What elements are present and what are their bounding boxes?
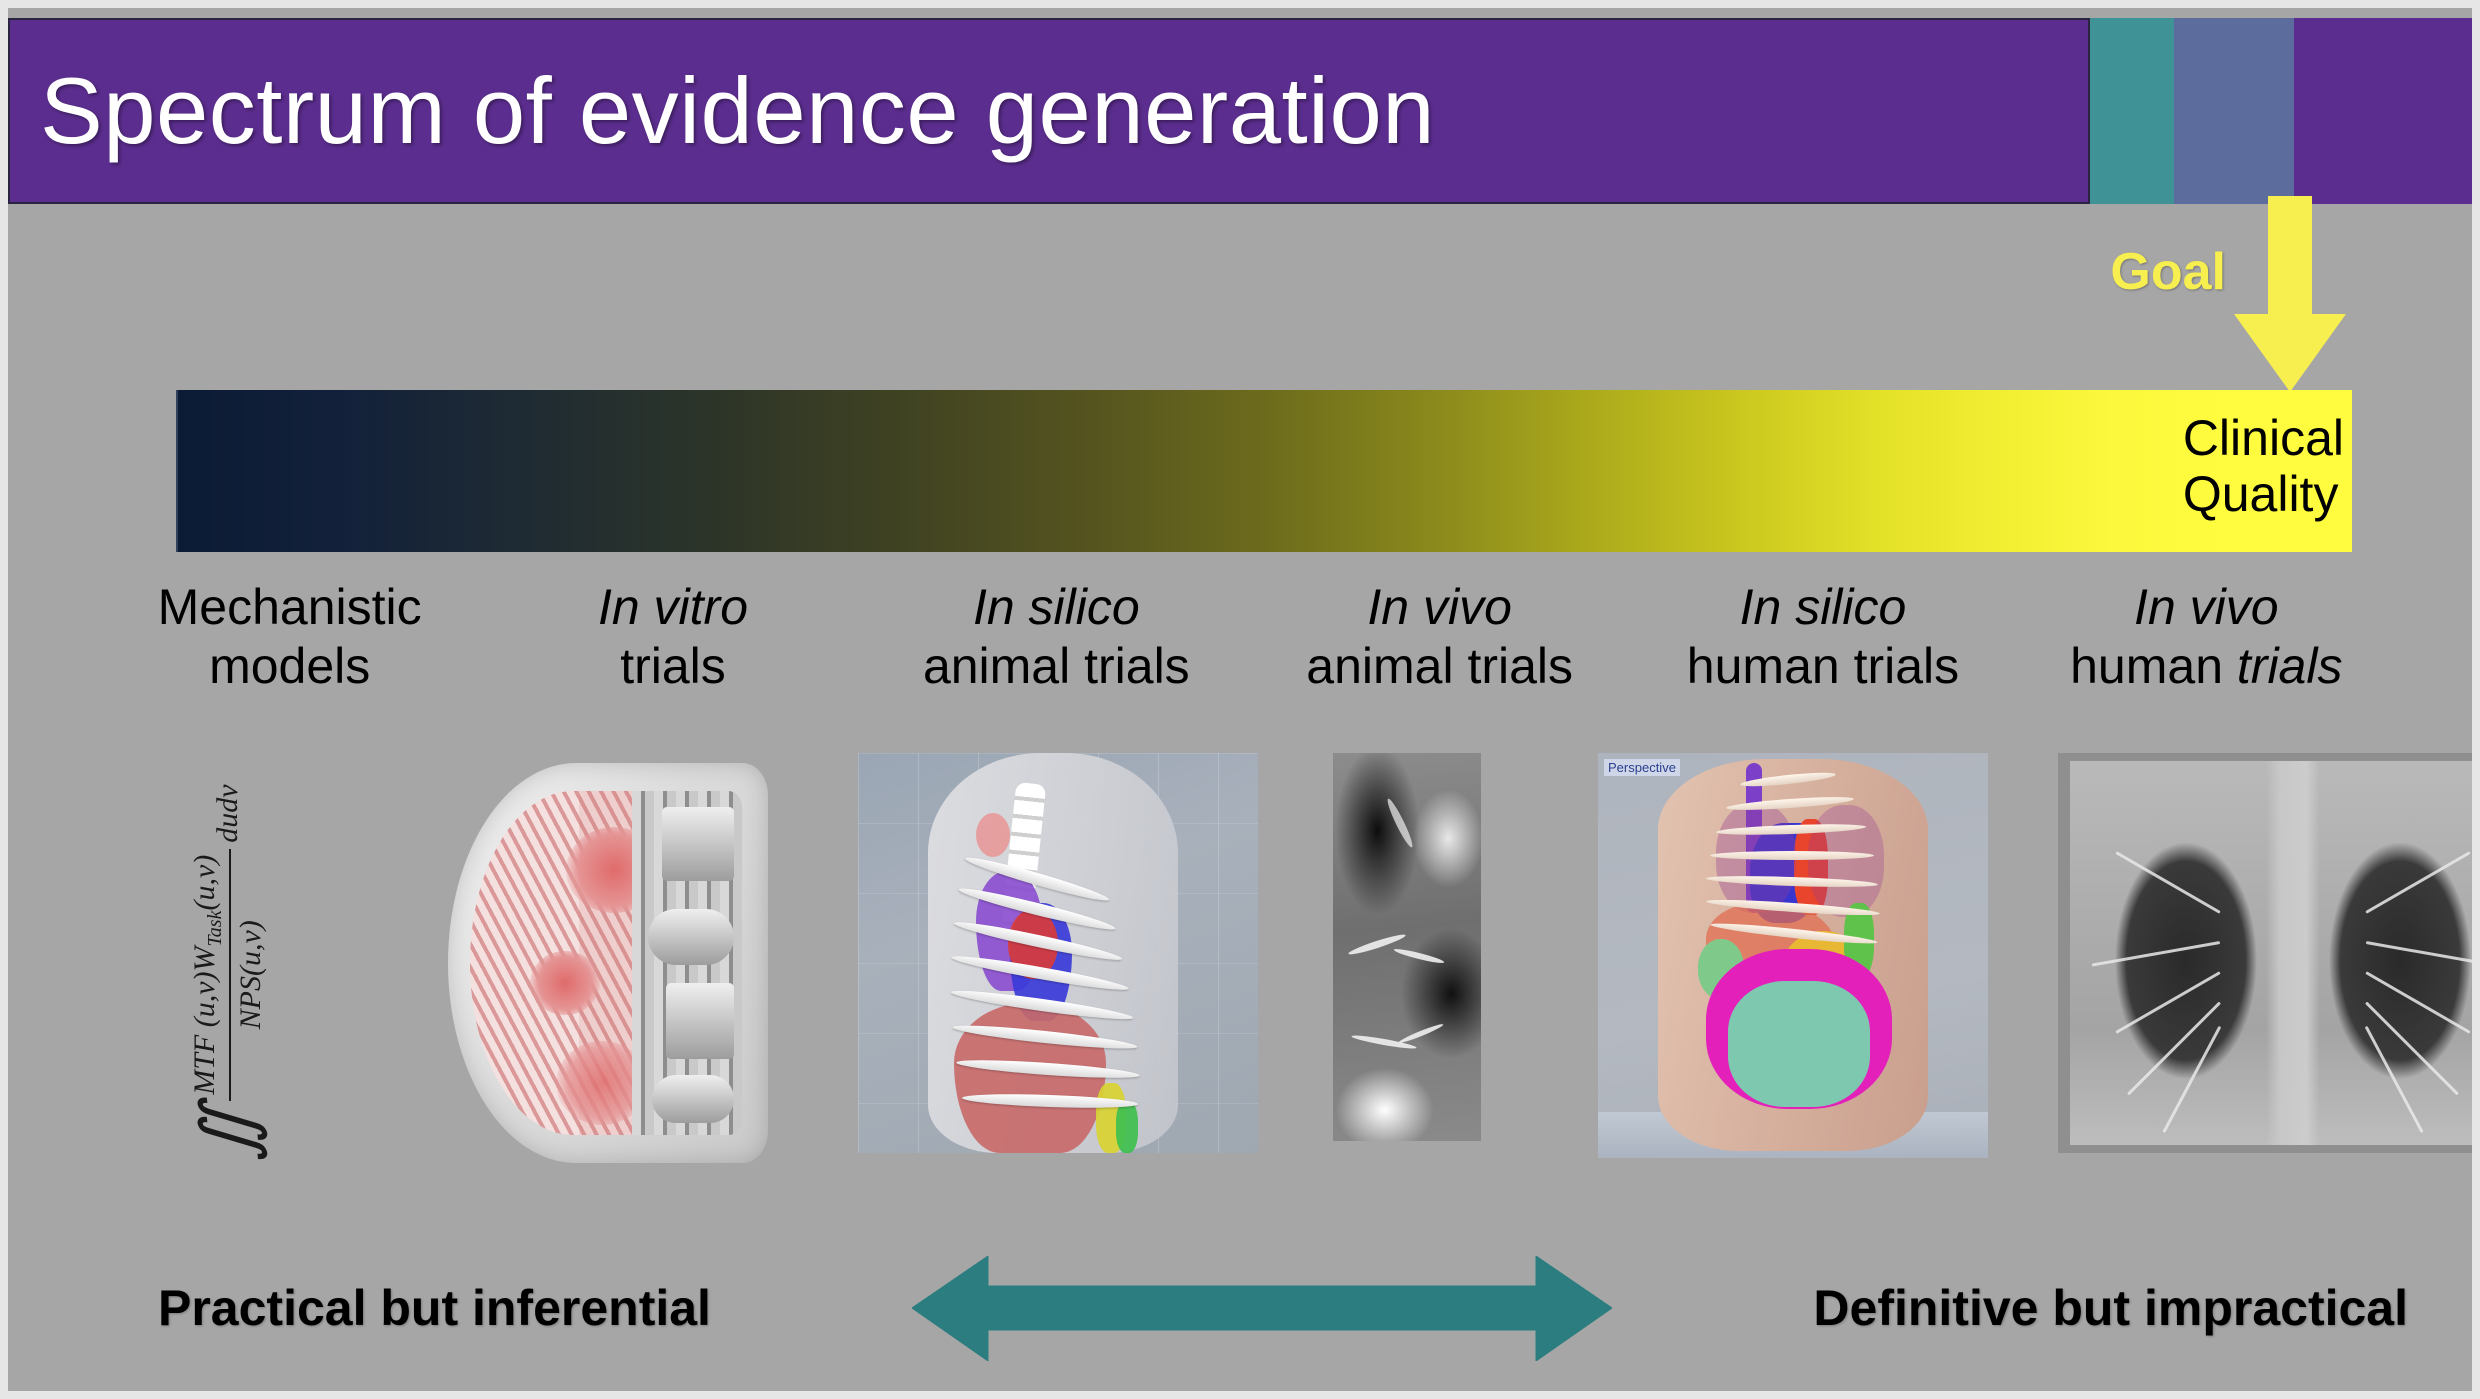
stage-label-row: Mechanistic models In vitro trials In si… [98, 578, 2398, 708]
clinical-quality-line2: Quality [2183, 466, 2344, 522]
in-silico-human-xcat-image: Perspective [1598, 753, 1988, 1158]
figure-row: Perspective [158, 753, 2408, 1183]
slide-header: Spectrum of evidence generation [8, 18, 2480, 204]
in-vivo-human-chest-ct-image [2058, 753, 2480, 1153]
evidence-spectrum-gradient-bar: Clinical Quality [176, 390, 2352, 552]
stage-line2-prefix: human [2070, 638, 2237, 694]
stage-line1: Mechanistic [98, 578, 481, 637]
page-title: Spectrum of evidence generation [10, 64, 1435, 158]
stage-line1: In vivo [1248, 578, 1631, 637]
tradeoff-caption-row: Practical but inferential Definitive but… [158, 1253, 2408, 1363]
in-vitro-phantom-image [448, 753, 768, 1173]
stage-label-in-silico-human-trials: In silico human trials [1631, 578, 2014, 708]
stage-line1: In vitro [481, 578, 864, 637]
header-title-band: Spectrum of evidence generation [8, 18, 2090, 204]
practical-but-inferential-label: Practical but inferential [158, 1279, 711, 1337]
goal-callout: Goal [2058, 204, 2358, 400]
header-teal-band [2090, 18, 2174, 204]
slide-canvas: Spectrum of evidence generation Goal Cli… [0, 0, 2480, 1399]
stage-line2-italic-part: trials [2237, 638, 2343, 694]
header-slate-band [2174, 18, 2294, 204]
definitive-but-impractical-label: Definitive but impractical [1813, 1279, 2408, 1337]
stage-line2: animal trials [865, 637, 1248, 696]
clinical-quality-label: Clinical Quality [2183, 410, 2344, 522]
stage-label-in-silico-animal-trials: In silico animal trials [865, 578, 1248, 708]
goal-label: Goal [2058, 246, 2226, 298]
stage-line1: In silico [1631, 578, 2014, 637]
stage-line2: human trials [2015, 637, 2398, 696]
header-purple-band [2294, 18, 2480, 204]
stage-line2: trials [481, 637, 864, 696]
stage-line2: human trials [1631, 637, 2014, 696]
stage-line2: models [98, 637, 481, 696]
clinical-quality-line1: Clinical [2183, 410, 2344, 466]
stage-line1: In silico [865, 578, 1248, 637]
stage-line1: In vivo [2015, 578, 2398, 637]
stage-label-in-vivo-human-trials: In vivo human trials [2015, 578, 2398, 708]
stage-line2: animal trials [1248, 637, 1631, 696]
stage-label-in-vitro-trials: In vitro trials [481, 578, 864, 708]
in-silico-animal-render-image [858, 753, 1258, 1153]
perspective-viewport-label: Perspective [1604, 759, 1680, 776]
stage-label-mechanistic-models: Mechanistic models [98, 578, 481, 708]
double-headed-arrow-icon [912, 1256, 1612, 1361]
in-vivo-animal-ct-image [1333, 753, 1481, 1141]
down-arrow-icon [2234, 196, 2346, 392]
stage-label-in-vivo-animal-trials: In vivo animal trials [1248, 578, 1631, 708]
